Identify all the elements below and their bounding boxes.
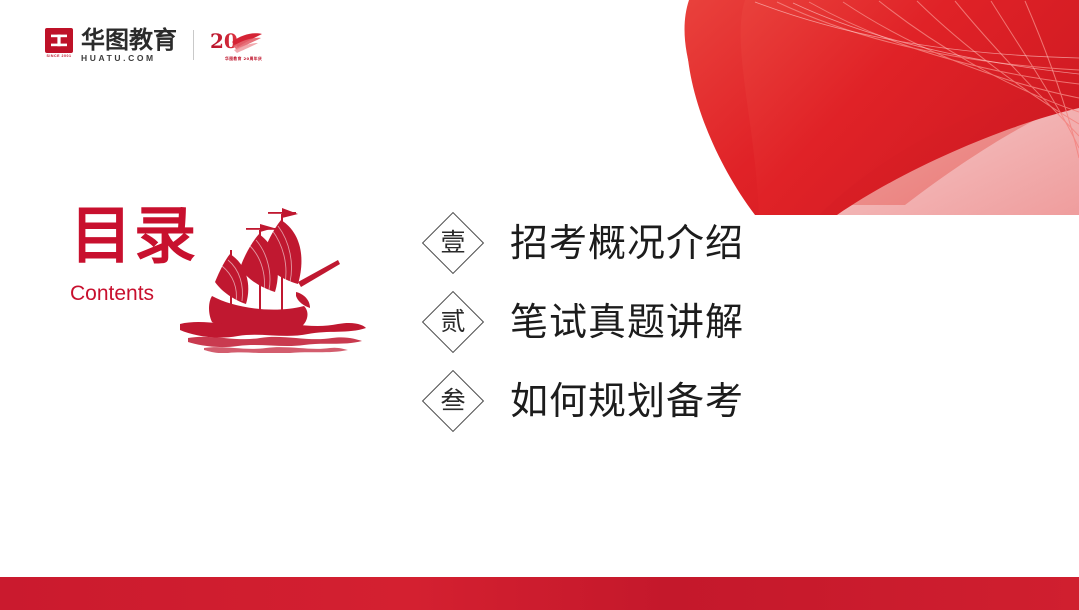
agenda-item-2[interactable]: 贰 笔试真题讲解 [422, 282, 744, 361]
brand-name-cn: 华图教育 [81, 28, 177, 52]
anniversary-tagline: 华图教育 20周年庆 [225, 57, 262, 61]
footer-bar [0, 577, 1079, 610]
anniversary-20-icon: 20 华图教育 20周年庆 [208, 28, 264, 62]
agenda-slide: SINCE 2001 华图教育 HUATU.COM 20 华图教育 20周年庆 [0, 0, 1079, 610]
brand-since-text: SINCE 2001 [47, 55, 72, 59]
agenda-item-number: 叁 [440, 388, 465, 413]
agenda-item-label: 招考概况介绍 [510, 224, 744, 262]
brand-divider [193, 30, 194, 60]
agenda-item-label: 笔试真题讲解 [510, 303, 744, 341]
brand-name-url: HUATU.COM [81, 54, 156, 63]
huatu-shield-h-icon: SINCE 2001 [44, 28, 74, 62]
agenda-item-1[interactable]: 壹 招考概况介绍 [422, 203, 744, 282]
page-subtitle: Contents [70, 283, 370, 304]
page-title: 目录 [70, 205, 370, 267]
agenda-list: 壹 招考概况介绍 贰 笔试真题讲解 叁 如何规划备考 [422, 203, 744, 440]
agenda-title-block: 目录 Contents [70, 205, 370, 304]
agenda-item-number: 贰 [440, 309, 465, 334]
brand-logo: SINCE 2001 华图教育 HUATU.COM 20 华图教育 20周年庆 [44, 25, 264, 65]
agenda-item-3[interactable]: 叁 如何规划备考 [422, 361, 744, 440]
agenda-item-label: 如何规划备考 [510, 382, 744, 420]
red-swoosh-ribbon-decoration [659, 0, 1079, 215]
diamond-outline-icon: 叁 [422, 370, 484, 432]
diamond-outline-icon: 贰 [422, 291, 484, 353]
agenda-item-number: 壹 [440, 230, 465, 255]
diamond-outline-icon: 壹 [422, 212, 484, 274]
